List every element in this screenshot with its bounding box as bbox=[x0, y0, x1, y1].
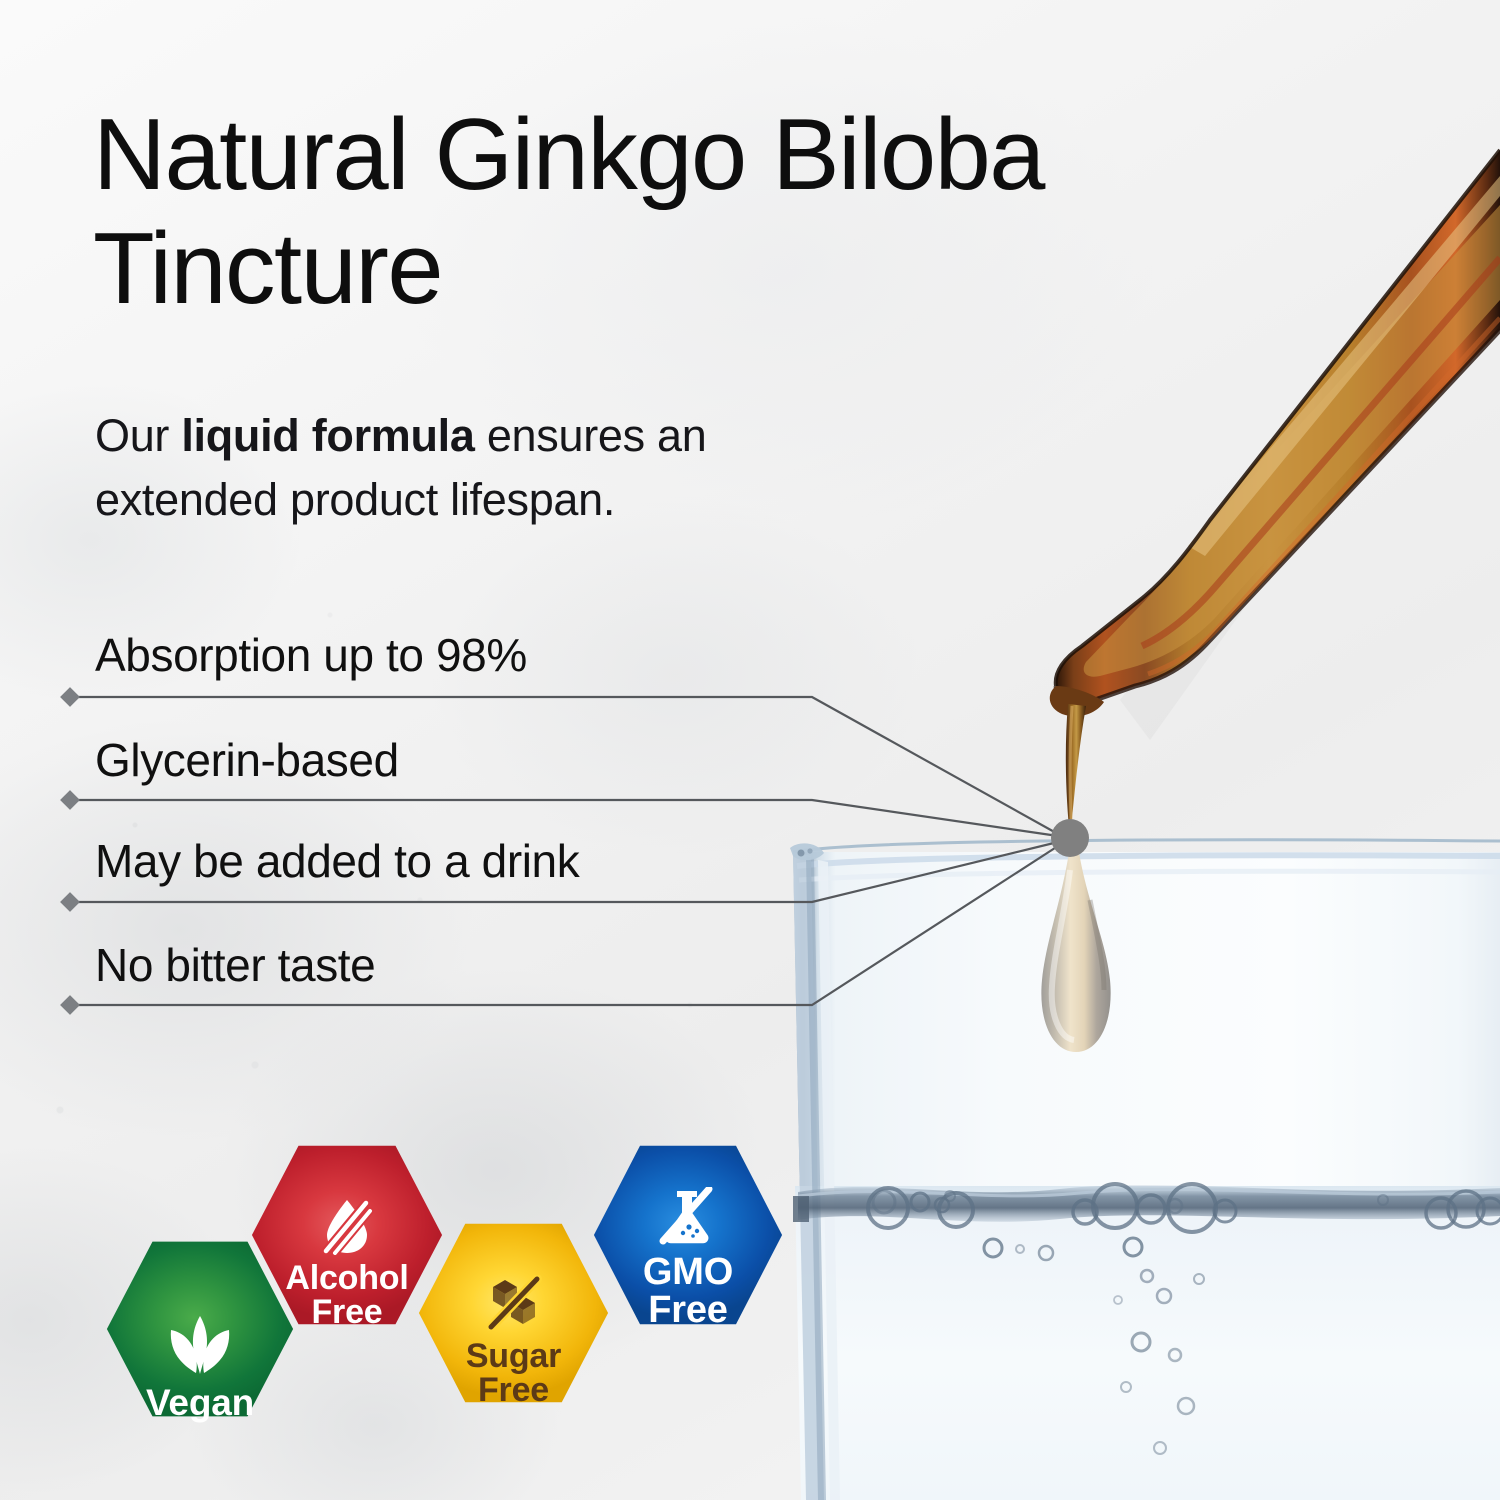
flask-slash-icon bbox=[657, 1187, 719, 1245]
badge-gmo-free: GMO Free bbox=[592, 1140, 784, 1330]
badge-label-line2: Free bbox=[643, 1291, 733, 1330]
badge-label-line1: Sugar bbox=[466, 1339, 561, 1374]
badge-label-line2: Free bbox=[466, 1373, 561, 1408]
badge-label-line1: Vegan bbox=[146, 1384, 254, 1422]
droplet-slash-icon bbox=[318, 1197, 376, 1255]
sugar-cubes-slash-icon bbox=[483, 1275, 545, 1331]
badge-label-line1: Alcohol bbox=[285, 1261, 408, 1296]
badge-label-line2: Free bbox=[285, 1295, 408, 1330]
product-infographic: Natural Ginkgo Biloba Tincture Our liqui… bbox=[0, 0, 1500, 1500]
badge-alcohol-free: Alcohol Free bbox=[250, 1140, 444, 1330]
badge-label-line1: GMO bbox=[643, 1253, 733, 1292]
badge-sugar-free: Sugar Free bbox=[417, 1218, 610, 1408]
leaf-icon bbox=[163, 1314, 237, 1378]
certification-badges: GMO Free Alcohol Free bbox=[0, 0, 1500, 1500]
